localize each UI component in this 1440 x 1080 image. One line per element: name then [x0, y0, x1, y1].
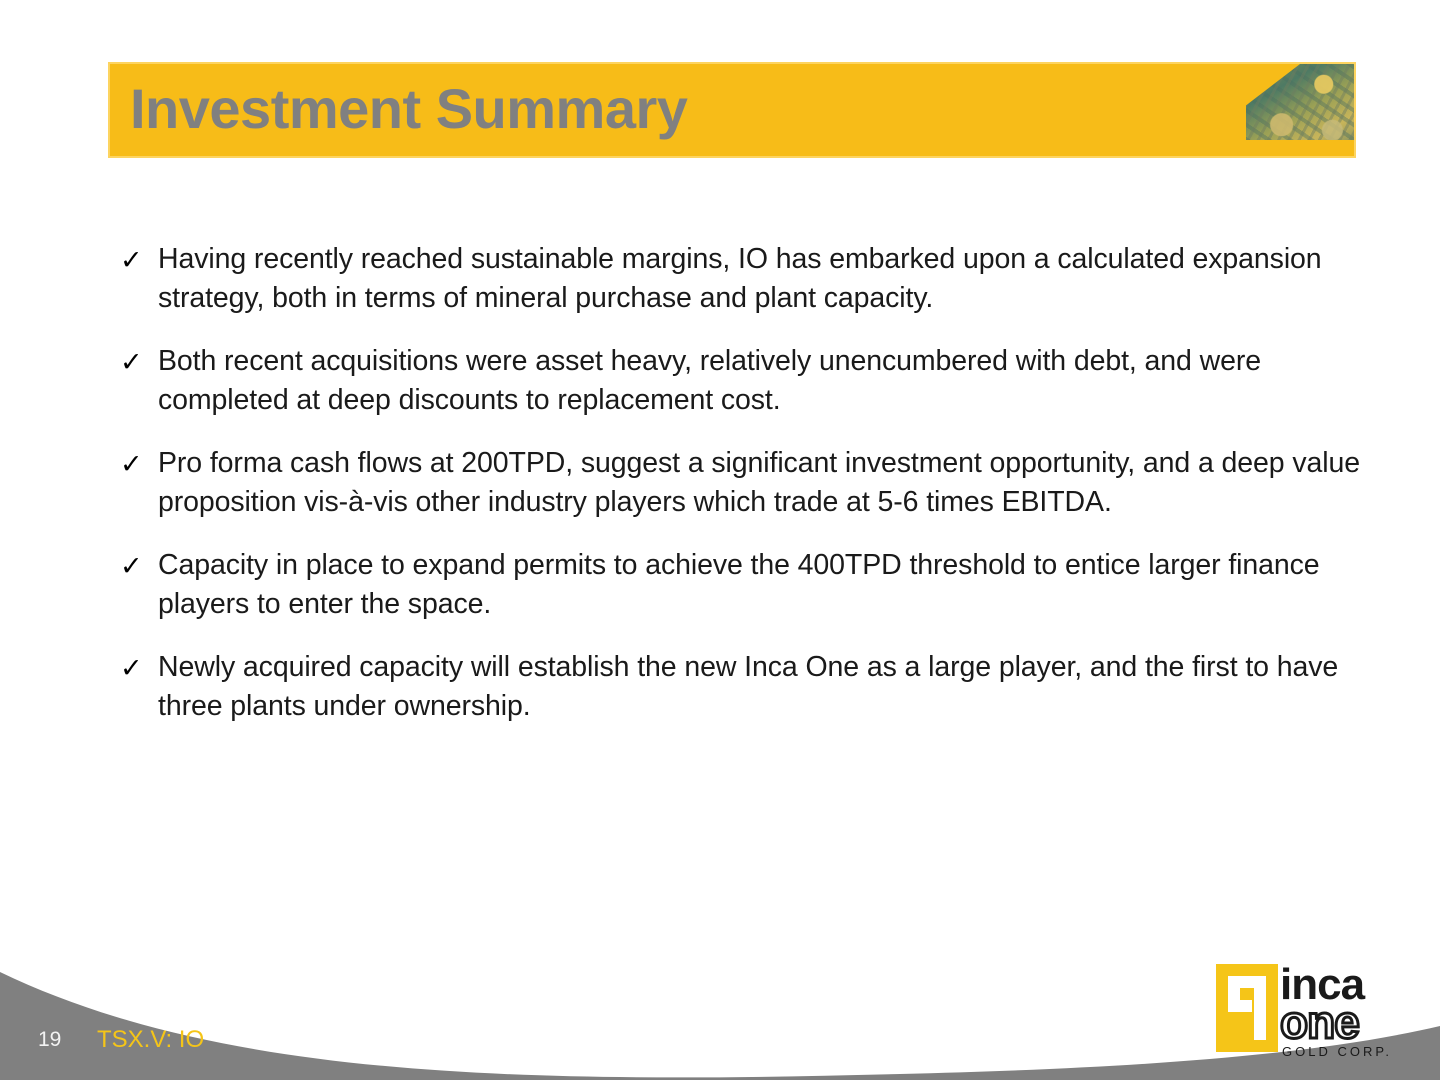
list-item: ✓ Pro forma cash flows at 200TPD, sugges…	[120, 444, 1360, 522]
page-title: Investment Summary	[130, 76, 687, 141]
logo-inca-one: inca one GOLD CORP.	[1214, 954, 1402, 1062]
bullet-text: Capacity in place to expand permits to a…	[158, 546, 1360, 624]
list-item: ✓ Newly acquired capacity will establish…	[120, 648, 1360, 726]
slide-left-edge	[0, 0, 7, 1080]
artifact-yellow-base	[1234, 140, 1354, 156]
checkmark-icon: ✓	[120, 648, 158, 688]
checkmark-icon: ✓	[120, 342, 158, 382]
checkmark-icon: ✓	[120, 444, 158, 484]
bullet-text: Newly acquired capacity will establish t…	[158, 648, 1360, 726]
bullet-text: Both recent acquisitions were asset heav…	[158, 342, 1360, 420]
inca-spiral-mark	[1216, 964, 1278, 1052]
bullet-text: Having recently reached sustainable marg…	[158, 240, 1360, 318]
checkmark-icon: ✓	[120, 240, 158, 280]
svg-text:GOLD CORP.: GOLD CORP.	[1282, 1044, 1392, 1059]
list-item: ✓ Having recently reached sustainable ma…	[120, 240, 1360, 318]
list-item: ✓ Both recent acquisitions were asset he…	[120, 342, 1360, 420]
checkmark-icon: ✓	[120, 546, 158, 586]
list-item: ✓ Capacity in place to expand permits to…	[120, 546, 1360, 624]
svg-text:one: one	[1280, 996, 1359, 1048]
page-number: 19	[38, 1028, 61, 1052]
slide: Investment Summary ✓ Having recently rea…	[0, 0, 1440, 1080]
bullet-list: ✓ Having recently reached sustainable ma…	[120, 240, 1360, 750]
ticker-symbol: TSX.V: IO	[97, 1026, 204, 1054]
bullet-text: Pro forma cash flows at 200TPD, suggest …	[158, 444, 1360, 522]
title-banner: Investment Summary	[108, 62, 1356, 158]
